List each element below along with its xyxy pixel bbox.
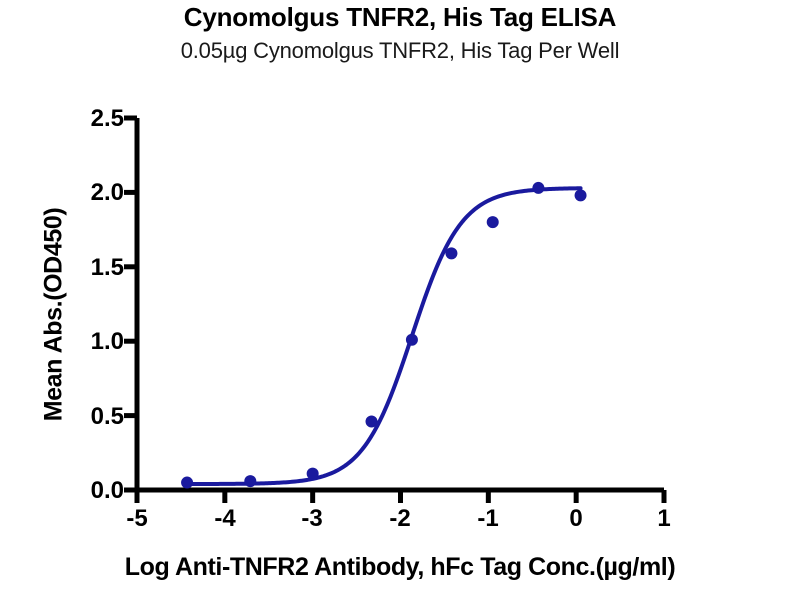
- sigmoid-fit-curve: [187, 188, 580, 484]
- data-point: [445, 247, 457, 259]
- data-point: [406, 334, 418, 346]
- data-point: [366, 416, 378, 428]
- data-point: [487, 216, 499, 228]
- data-point: [307, 468, 319, 480]
- elisa-chart-figure: Cynomolgus TNFR2, His Tag ELISA 0.05µg C…: [0, 0, 800, 600]
- plot-area: [0, 0, 800, 600]
- data-point: [181, 477, 193, 489]
- data-point: [532, 182, 544, 194]
- axes: [135, 118, 665, 490]
- data-point: [244, 475, 256, 487]
- data-point: [575, 189, 587, 201]
- data-point-markers: [181, 182, 586, 489]
